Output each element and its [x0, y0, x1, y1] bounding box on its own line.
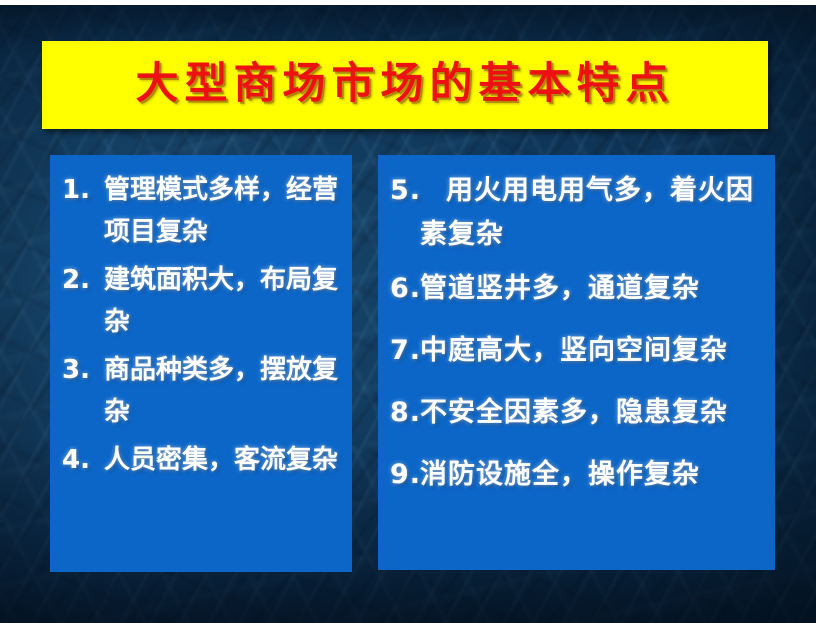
list-item: 2. 建筑面积大，布局复杂: [58, 259, 342, 343]
list-item-text: 人员密集，客流复杂: [104, 439, 342, 481]
slide-title: 大型商场市场的基本特点: [136, 63, 675, 106]
list-item: 6. 管道竖井多，通道复杂: [386, 267, 767, 311]
left-feature-list: 1. 管理模式多样，经营项目复杂 2. 建筑面积大，布局复杂 3. 商品种类多，…: [50, 155, 352, 481]
list-item: 9. 消防设施全，操作复杂: [386, 453, 767, 497]
list-item: 7. 中庭高大，竖向空间复杂: [386, 329, 767, 373]
presentation-slide: 大型商场市场的基本特点 1. 管理模式多样，经营项目复杂 2. 建筑面积大，布局…: [0, 0, 816, 623]
right-feature-list: 5. 用火用电用气多，着火因素复杂 6. 管道竖井多，通道复杂 7. 中庭高大，…: [378, 155, 775, 497]
list-item-text: 管道竖井多，通道复杂: [420, 267, 765, 311]
list-item-number: 2.: [58, 259, 104, 301]
list-item-text: 用火用电用气多，着火因素复杂: [420, 169, 765, 257]
list-item: 4. 人员密集，客流复杂: [58, 439, 342, 481]
top-edge-strip: [0, 0, 816, 5]
left-content-panel: 1. 管理模式多样，经营项目复杂 2. 建筑面积大，布局复杂 3. 商品种类多，…: [50, 155, 352, 572]
title-banner: 大型商场市场的基本特点: [42, 41, 768, 129]
list-item: 3. 商品种类多，摆放复杂: [58, 349, 342, 433]
list-item-number: 5.: [386, 169, 420, 213]
list-item-number: 3.: [58, 349, 104, 391]
list-item-text: 消防设施全，操作复杂: [420, 453, 765, 497]
list-item-text: 中庭高大，竖向空间复杂: [420, 329, 765, 373]
list-item: 1. 管理模式多样，经营项目复杂: [58, 169, 342, 253]
list-item: 8. 不安全因素多，隐患复杂: [386, 391, 767, 435]
list-item-number: 8.: [386, 391, 420, 435]
list-item-number: 7.: [386, 329, 420, 373]
list-item-text: 管理模式多样，经营项目复杂: [104, 169, 342, 253]
right-content-panel: 5. 用火用电用气多，着火因素复杂 6. 管道竖井多，通道复杂 7. 中庭高大，…: [378, 155, 775, 570]
list-item-number: 9.: [386, 453, 420, 497]
list-item-text: 建筑面积大，布局复杂: [104, 259, 342, 343]
list-item: 5. 用火用电用气多，着火因素复杂: [386, 169, 767, 257]
list-item-text: 不安全因素多，隐患复杂: [420, 391, 765, 435]
list-item-number: 4.: [58, 439, 104, 481]
list-item-number: 6.: [386, 267, 420, 311]
list-item-number: 1.: [58, 169, 104, 211]
list-item-text: 商品种类多，摆放复杂: [104, 349, 342, 433]
